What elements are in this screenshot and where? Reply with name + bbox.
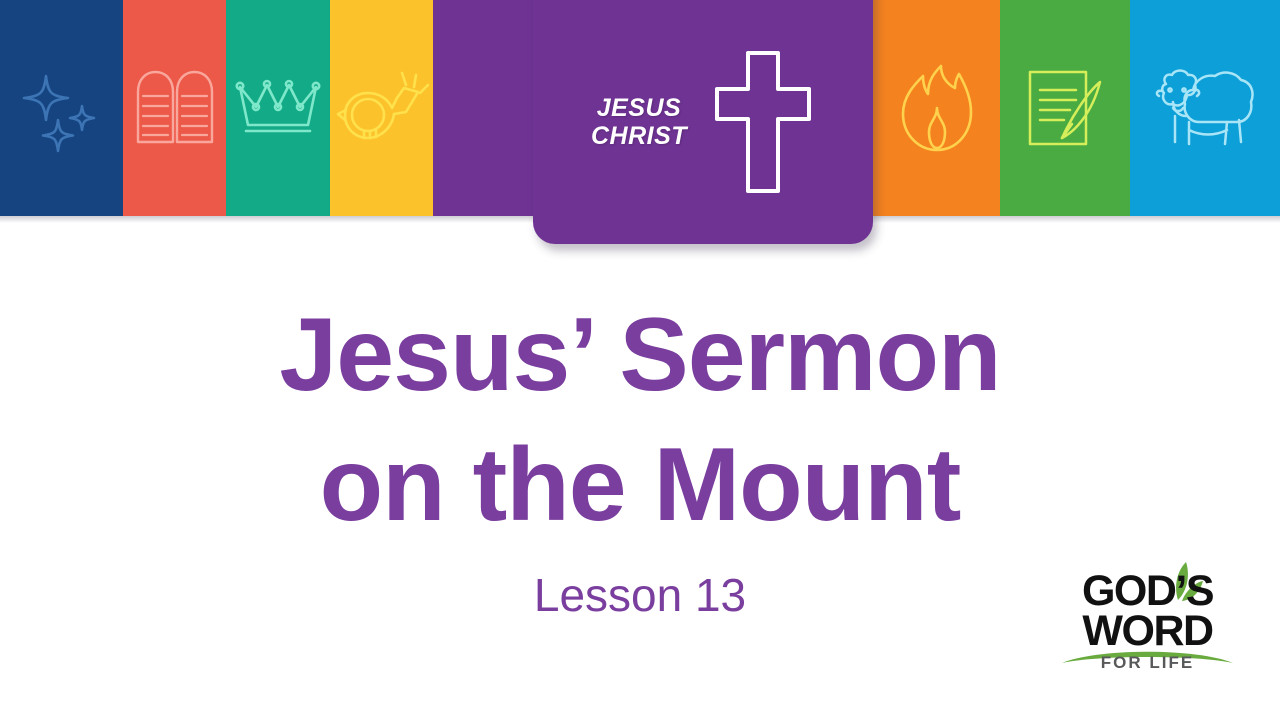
- jesus-christ-card[interactable]: JESUS CHRIST: [533, 0, 873, 244]
- band-flame[interactable]: [873, 0, 1000, 216]
- horn-icon: [334, 68, 430, 148]
- page-title: Jesus’ Sermon on the Mount: [0, 290, 1280, 550]
- slide-canvas: JESUS CHRIST Jesus’ Sermon on the Mount …: [0, 0, 1280, 720]
- sparkles-icon: [14, 60, 110, 156]
- cross-icon: [711, 47, 815, 197]
- flame-icon: [897, 62, 977, 154]
- band-sparkles[interactable]: [0, 0, 123, 216]
- brand-logo: GOD’S WORD FOR LIFE: [1060, 556, 1235, 671]
- band-tablets[interactable]: [123, 0, 226, 216]
- tablets-icon: [131, 66, 219, 150]
- band-horn[interactable]: [330, 0, 433, 216]
- logo-tagline: FOR LIFE: [1060, 653, 1235, 673]
- jesus-christ-label: JESUS CHRIST: [591, 94, 687, 150]
- sheep-icon: [1153, 66, 1257, 150]
- scroll-quill-icon: [1022, 66, 1108, 150]
- band-scroll-quill[interactable]: [1000, 0, 1130, 216]
- crown-icon: [232, 73, 324, 143]
- band-crown[interactable]: [226, 0, 330, 216]
- band-sheep[interactable]: [1130, 0, 1280, 216]
